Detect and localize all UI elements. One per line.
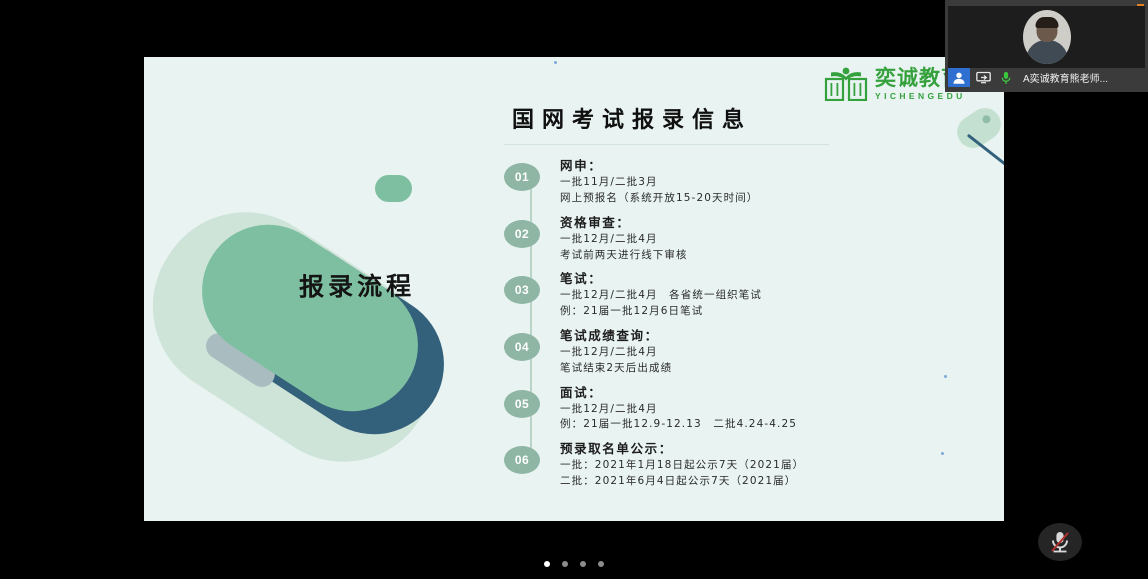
step-heading: 预录取名单公示： <box>560 440 804 458</box>
page-dot[interactable] <box>580 561 586 567</box>
step-number-badge: 04 <box>504 333 540 361</box>
step-heading: 笔试： <box>560 270 762 288</box>
step-number-badge: 05 <box>504 390 540 418</box>
step-item: 02 资格审查： 一批12月/二批4月 考试前两天进行线下审核 <box>504 214 984 264</box>
video-participant-panel[interactable]: A奕诚教育熊老师... <box>945 0 1148 92</box>
page-dot[interactable] <box>598 561 604 567</box>
step-detail-line: 例：21届一批12月6日笔试 <box>560 304 762 320</box>
presentation-slide: 奕诚教育 YICHENGEDU 报录流程 国网考试报录信息 0 <box>144 57 1004 521</box>
step-heading: 资格审查： <box>560 214 688 232</box>
illustration-label: 报录流程 <box>247 266 467 304</box>
step-detail-line: 一批12月/二批4月 各省统一组织笔试 <box>560 288 762 304</box>
step-number-badge: 06 <box>504 446 540 474</box>
slide-content: 国网考试报录信息 01 网申： 一批11月/二批3月 网上预报名（系统开放15-… <box>504 102 984 497</box>
step-detail-line: 例：21届一批12.9-12.13 二批4.24-4.25 <box>560 417 797 433</box>
screen-share-icon[interactable] <box>973 68 993 87</box>
step-detail-line: 一批：2021年1月18日起公示7天（2021届） <box>560 458 804 474</box>
flow-illustration: 报录流程 <box>192 162 522 422</box>
step-item: 05 面试： 一批12月/二批4月 例：21届一批12.9-12.13 二批4.… <box>504 384 984 434</box>
open-book-icon <box>824 67 868 101</box>
step-number-badge: 02 <box>504 220 540 248</box>
step-item: 01 网申： 一批11月/二批3月 网上预报名（系统开放15-20天时间） <box>504 157 984 207</box>
step-detail-line: 笔试结束2天后出成绩 <box>560 361 672 377</box>
page-indicator-dots <box>0 561 1148 567</box>
step-detail-line: 考试前两天进行线下审核 <box>560 248 688 264</box>
step-item: 04 笔试成绩查询： 一批12月/二批4月 笔试结束2天后出成绩 <box>504 327 984 377</box>
microphone-icon[interactable] <box>996 68 1016 87</box>
step-number-badge: 01 <box>504 163 540 191</box>
step-detail-line: 一批11月/二批3月 <box>560 175 758 191</box>
participant-name: A奕诚教育熊老师... <box>1023 70 1108 85</box>
step-item: 06 预录取名单公示： 一批：2021年1月18日起公示7天（2021届） 二批… <box>504 440 984 490</box>
step-heading: 笔试成绩查询： <box>560 327 672 345</box>
steps-list: 01 网申： 一批11月/二批3月 网上预报名（系统开放15-20天时间） 02… <box>504 157 984 490</box>
video-feed[interactable] <box>948 6 1145 68</box>
step-detail-line: 一批12月/二批4月 <box>560 402 797 418</box>
title-divider <box>504 144 829 145</box>
logo-text-en: YICHENGEDU <box>875 92 966 101</box>
page-dot[interactable] <box>544 561 550 567</box>
step-detail-line: 一批12月/二批4月 <box>560 345 672 361</box>
step-detail-line: 二批：2021年6月4日起公示7天（2021届） <box>560 474 804 490</box>
mute-button[interactable] <box>1038 523 1082 561</box>
step-detail-line: 网上预报名（系统开放15-20天时间） <box>560 191 758 207</box>
microphone-muted-icon <box>1048 529 1072 555</box>
step-heading: 面试： <box>560 384 797 402</box>
step-heading: 网申： <box>560 157 758 175</box>
decorative-dot <box>554 61 557 64</box>
page-dot[interactable] <box>562 561 568 567</box>
slide-title: 国网考试报录信息 <box>504 102 984 134</box>
video-status-bar: A奕诚教育熊老师... <box>948 68 1145 87</box>
app-window: 奕诚教育 YICHENGEDU 报录流程 国网考试报录信息 0 <box>0 0 1148 579</box>
avatar <box>1023 10 1071 64</box>
step-detail-line: 一批12月/二批4月 <box>560 232 688 248</box>
step-item: 03 笔试： 一批12月/二批4月 各省统一组织笔试 例：21届一批12月6日笔… <box>504 270 984 320</box>
step-number-badge: 03 <box>504 276 540 304</box>
person-icon[interactable] <box>948 68 970 87</box>
illustration-knob <box>375 175 412 202</box>
